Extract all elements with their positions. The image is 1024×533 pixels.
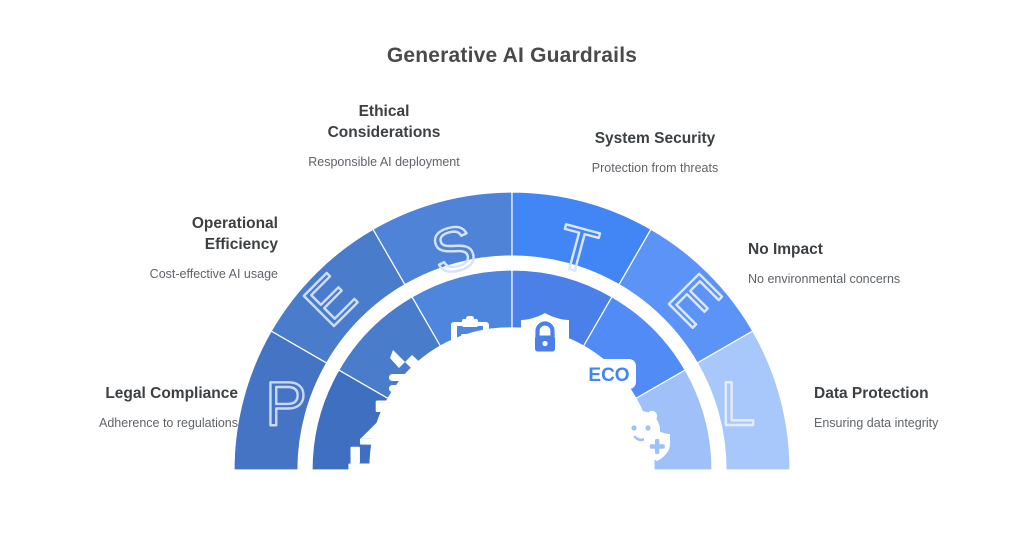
- cost-reduction-chart-icon: [389, 350, 437, 403]
- letter-l: L: [721, 370, 755, 439]
- label-operational-efficiency-heading: Operational Efficiency: [88, 213, 278, 255]
- label-operational-efficiency-subtitle: Cost-effective AI usage: [88, 266, 278, 283]
- label-ethical-considerations-subtitle: Responsible AI deployment: [274, 154, 494, 171]
- label-legal-compliance-heading: Legal Compliance: [22, 383, 238, 404]
- label-no-impact-subtitle: No environmental concerns: [748, 271, 978, 288]
- label-system-security: System Security Protection from threats: [540, 128, 770, 177]
- eco-badge-text: ECO: [588, 365, 629, 386]
- label-legal-compliance-subtitle: Adherence to regulations: [22, 415, 238, 432]
- label-system-security-heading: System Security: [540, 128, 770, 149]
- label-no-impact-heading: No Impact: [748, 239, 978, 260]
- label-data-protection-heading: Data Protection: [814, 383, 1024, 404]
- label-legal-compliance: Legal Compliance Adherence to regulation…: [22, 383, 238, 432]
- label-ethical-considerations-heading: Ethical Considerations: [274, 101, 494, 143]
- label-system-security-subtitle: Protection from threats: [540, 160, 770, 177]
- label-no-impact: No Impact No environmental concerns: [748, 239, 978, 288]
- shield-lock-icon: [521, 313, 569, 369]
- infographic-canvas: Generative AI Guardrails P E S T E L: [0, 0, 1024, 533]
- letter-p: P: [265, 370, 306, 439]
- label-data-protection: Data Protection Ensuring data integrity: [814, 383, 1024, 432]
- label-data-protection-subtitle: Ensuring data integrity: [814, 415, 1024, 432]
- label-ethical-considerations: Ethical Considerations Responsible AI de…: [274, 101, 494, 171]
- label-operational-efficiency: Operational Efficiency Cost-effective AI…: [88, 213, 278, 283]
- eco-badge-icon: ECO: [582, 359, 636, 389]
